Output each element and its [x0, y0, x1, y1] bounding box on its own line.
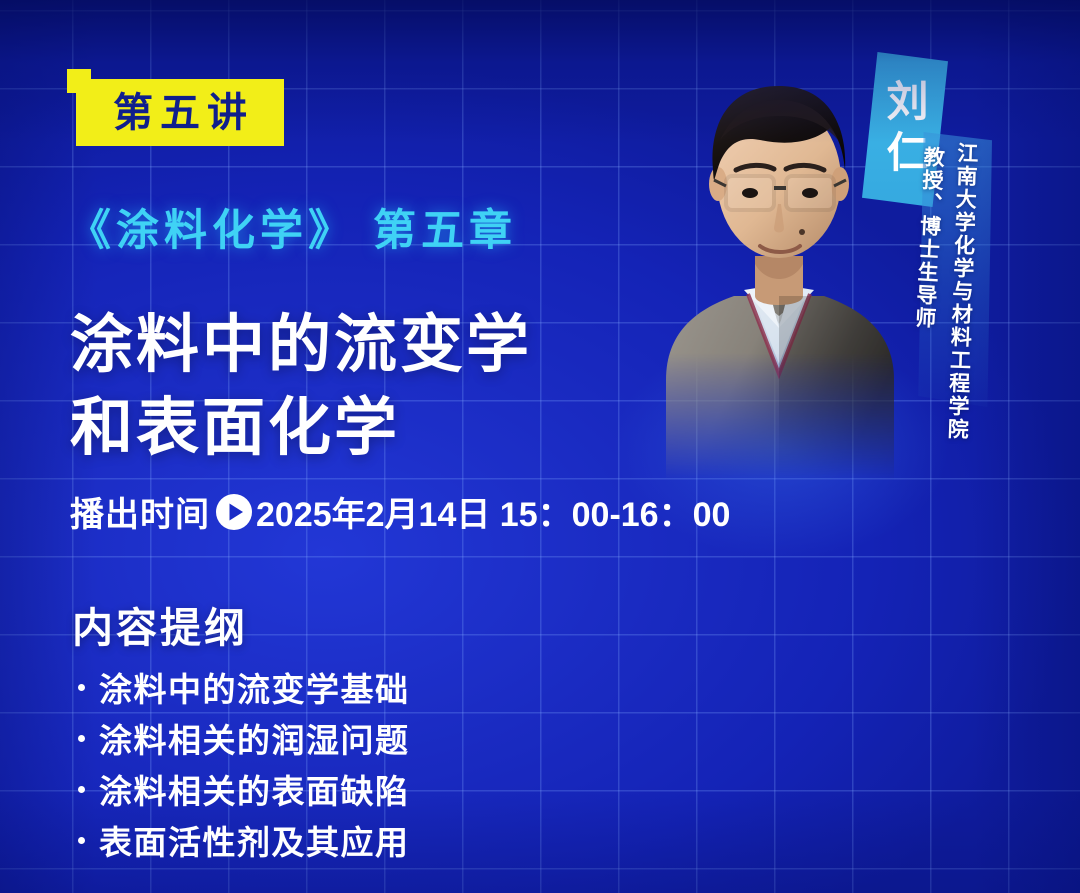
airtime-row: 播出时间 2025年2月14日 15：00-16：00 — [70, 487, 730, 536]
bullet-dot-icon — [78, 786, 85, 793]
airtime-value: 2025年2月14日 15：00-16：00 — [256, 487, 730, 536]
lecture-number-label: 第五讲 — [106, 93, 254, 133]
outline-heading: 内容提纲 — [72, 594, 248, 654]
outline-list: 涂料中的流变学基础 涂料相关的润湿问题 涂料相关的表面缺陷 表面活性剂及其应用 — [78, 662, 410, 866]
list-item-label: 表面活性剂及其应用 — [99, 816, 410, 864]
bullet-dot-icon — [78, 735, 85, 742]
course-chapter-subtitle: 《涂料化学》 第五章 — [68, 207, 517, 256]
airtime-label: 播出时间 — [70, 487, 210, 536]
list-item-label: 涂料相关的润湿问题 — [99, 714, 410, 762]
list-item: 涂料中的流变学基础 — [78, 662, 410, 712]
play-icon[interactable] — [214, 492, 254, 532]
list-item: 表面活性剂及其应用 — [78, 815, 410, 865]
lecture-poster: 刘仁 教授、博士生导师 江南大学化学与材料工程学院 第五讲 《涂料化学》 第五章… — [0, 0, 1080, 893]
list-item: 涂料相关的表面缺陷 — [78, 764, 410, 814]
lecture-number-badge: 第五讲 — [76, 79, 284, 146]
bullet-dot-icon — [78, 684, 85, 691]
page-title: 涂料中的流变学 和表面化学 — [70, 304, 532, 470]
list-item-label: 涂料中的流变学基础 — [99, 663, 410, 711]
bullet-dot-icon — [78, 837, 85, 844]
list-item: 涂料相关的润湿问题 — [78, 713, 410, 763]
list-item-label: 涂料相关的表面缺陷 — [99, 765, 410, 813]
